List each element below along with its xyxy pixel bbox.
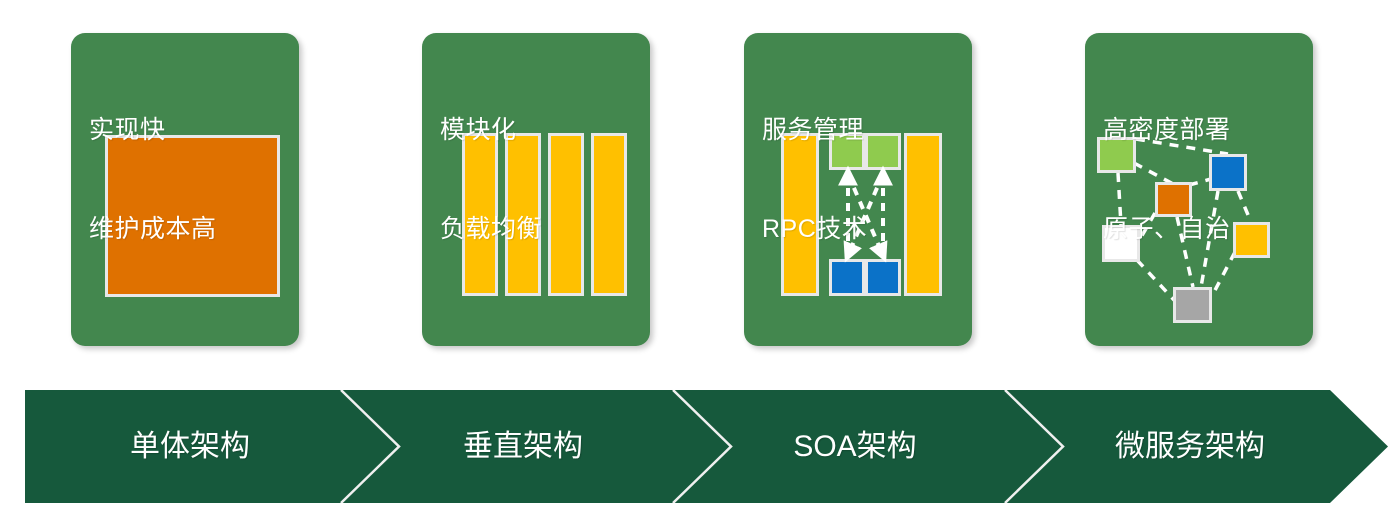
step-label-vertical[interactable]: 垂直架构 bbox=[363, 390, 683, 503]
card-soa-title-line1: 服务管理 bbox=[762, 114, 867, 147]
card-vertical-title: 模块化 负载均衡 bbox=[440, 48, 542, 312]
step-label-soa[interactable]: SOA架构 bbox=[695, 390, 1015, 503]
card-soa-title: 服务管理 RPC技术 bbox=[762, 48, 867, 312]
card-monolith[interactable]: 实现快 维护成本高 bbox=[71, 33, 299, 346]
card-soa-title-line2: RPC技术 bbox=[762, 213, 867, 246]
mesh-node-yellow bbox=[1233, 222, 1270, 258]
card-microservice[interactable]: 高密度部署 原子、自治 bbox=[1085, 33, 1313, 346]
card-vertical-title-line2: 负载均衡 bbox=[440, 213, 542, 246]
card-microservice-title: 高密度部署 原子、自治 bbox=[1103, 48, 1231, 312]
architecture-evolution-diagram: 实现快 维护成本高 模块化 负载均衡 bbox=[0, 0, 1396, 531]
architecture-evolution-arrow: 单体架构 垂直架构 SOA架构 微服务架构 bbox=[25, 390, 1388, 503]
vertical-column-4 bbox=[591, 133, 627, 296]
step-label-monolith[interactable]: 单体架构 bbox=[25, 390, 355, 503]
mesh-link-blue-yellow bbox=[1238, 191, 1251, 222]
card-monolith-title-line1: 实现快 bbox=[89, 114, 217, 147]
step-label-microservice[interactable]: 微服务架构 bbox=[1025, 390, 1355, 503]
card-microservice-title-line1: 高密度部署 bbox=[1103, 114, 1231, 147]
vertical-column-3 bbox=[548, 133, 584, 296]
card-monolith-title: 实现快 维护成本高 bbox=[89, 48, 217, 312]
card-monolith-title-line2: 维护成本高 bbox=[89, 213, 217, 246]
card-vertical[interactable]: 模块化 负载均衡 bbox=[422, 33, 650, 346]
card-vertical-title-line1: 模块化 bbox=[440, 114, 542, 147]
card-soa[interactable]: 服务管理 RPC技术 bbox=[744, 33, 972, 346]
card-microservice-title-line2: 原子、自治 bbox=[1103, 213, 1231, 246]
